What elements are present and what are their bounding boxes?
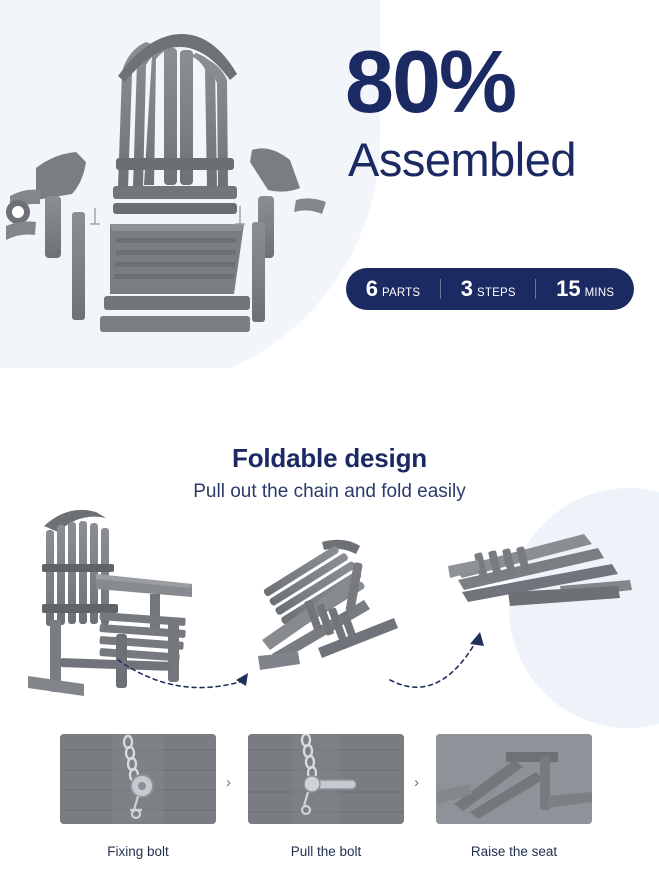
step-card-pull-the-bolt [248,734,404,824]
stats-divider-1 [440,279,441,299]
step-card-raise-the-seat [436,734,592,824]
arrow-1-head [236,673,248,686]
stat-mins-number: 15 [556,276,580,302]
assembled-word: Assembled [348,132,645,188]
pull-the-bolt-photo [248,734,404,824]
chair-stage-open [28,510,192,696]
stat-parts-unit: PARTS [382,287,420,299]
backrest-part [113,34,237,214]
step-label-fixing-bolt: Fixing bolt [60,844,216,859]
arrow-2 [390,638,478,687]
stats-pill: 6 PARTS 3 STEPS 15 MINS [346,268,634,310]
exploded-chair-svg [0,0,345,368]
step-label-raise-the-seat: Raise the seat [436,844,592,859]
foldable-design-panel: Foldable design Pull out the chain and f… [0,368,659,728]
stat-mins: 15 MINS [556,276,614,302]
foldable-subtitle: Pull out the chain and fold easily [0,481,659,503]
raise-the-seat-photo [436,734,592,824]
step-separator-1: › [226,774,231,791]
exploded-chair-illustration [0,0,345,368]
stat-parts: 6 PARTS [366,276,421,302]
seat-part [100,224,250,332]
foldable-title: Foldable design [0,443,659,474]
headline-block: 80% Assembled [345,38,645,188]
steps-panel: Fixing bolt › [0,728,659,879]
step-label-pull-the-bolt: Pull the bolt [248,844,404,859]
stat-steps-unit: STEPS [477,287,516,299]
stat-parts-number: 6 [366,276,378,302]
fold-sequence [0,508,659,728]
arrow-2-head [470,632,484,646]
stat-mins-unit: MINS [585,287,615,299]
stat-steps: 3 STEPS [461,276,516,302]
step-separator-2: › [414,774,419,791]
step-card-fixing-bolt [60,734,216,824]
chair-stage-folding [258,540,398,670]
stat-steps-number: 3 [461,276,473,302]
top-panel: 80% Assembled 6 PARTS 3 STEPS 15 MINS [0,0,659,368]
stats-divider-2 [535,279,536,299]
fixing-bolt-photo [60,734,216,824]
fold-sequence-svg [0,508,659,728]
chair-stage-folded [448,534,632,606]
assembled-percent: 80% [345,38,645,126]
